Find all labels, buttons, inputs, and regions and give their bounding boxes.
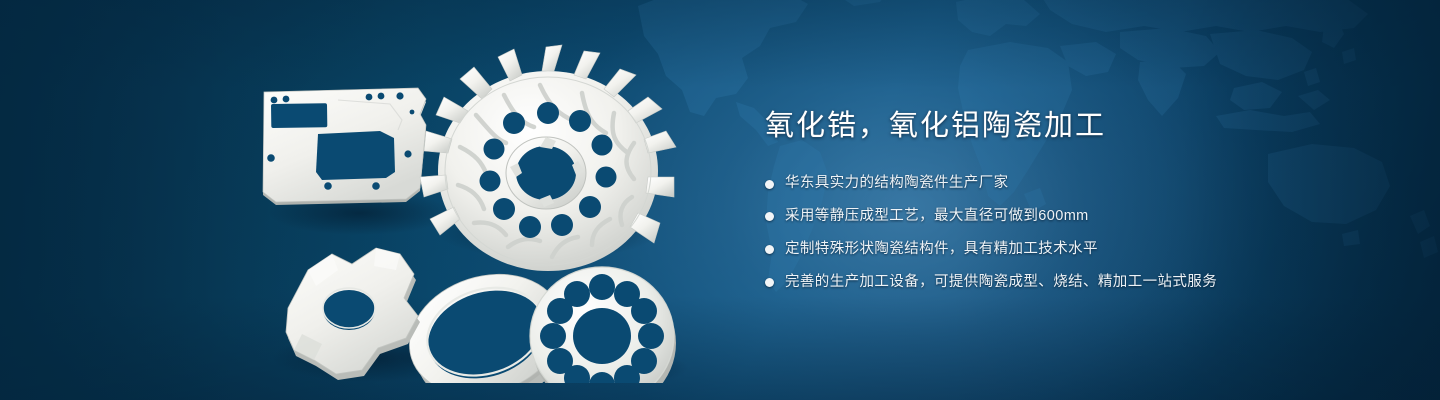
- feature-text: 定制特殊形状陶瓷结构件，具有精加工技术水平: [785, 239, 1098, 261]
- feature-text: 华东具实力的结构陶瓷件生产厂家: [785, 173, 1009, 195]
- bullet-dot-icon: [765, 278, 774, 287]
- bullet-dot-icon: [765, 245, 774, 254]
- bullet-dot-icon: [765, 180, 774, 189]
- list-item: 采用等静压成型工艺，最大直径可做到600mm: [765, 206, 1385, 228]
- feature-list: 华东具实力的结构陶瓷件生产厂家 采用等静压成型工艺，最大直径可做到600mm 定…: [765, 173, 1385, 293]
- list-item: 定制特殊形状陶瓷结构件，具有精加工技术水平: [765, 239, 1385, 261]
- ceramic-machined-plate: [263, 88, 426, 205]
- list-item: 华东具实力的结构陶瓷件生产厂家: [765, 173, 1385, 195]
- banner-copy-block: 氧化锆，氧化铝陶瓷加工 华东具实力的结构陶瓷件生产厂家 采用等静压成型工艺，最大…: [765, 108, 1385, 304]
- bullet-dot-icon: [765, 212, 774, 221]
- feature-text: 完善的生产加工设备，可提供陶瓷成型、烧结、精加工一站式服务: [785, 272, 1217, 294]
- ceramic-products-photo: [230, 38, 710, 383]
- page-title: 氧化锆，氧化铝陶瓷加工: [765, 108, 1385, 144]
- ceramic-perforated-disc: [530, 267, 676, 383]
- hero-banner: 氧化锆，氧化铝陶瓷加工 华东具实力的结构陶瓷件生产厂家 采用等静压成型工艺，最大…: [0, 0, 1440, 400]
- list-item: 完善的生产加工设备，可提供陶瓷成型、烧结、精加工一站式服务: [765, 272, 1385, 294]
- feature-text: 采用等静压成型工艺，最大直径可做到600mm: [785, 206, 1089, 228]
